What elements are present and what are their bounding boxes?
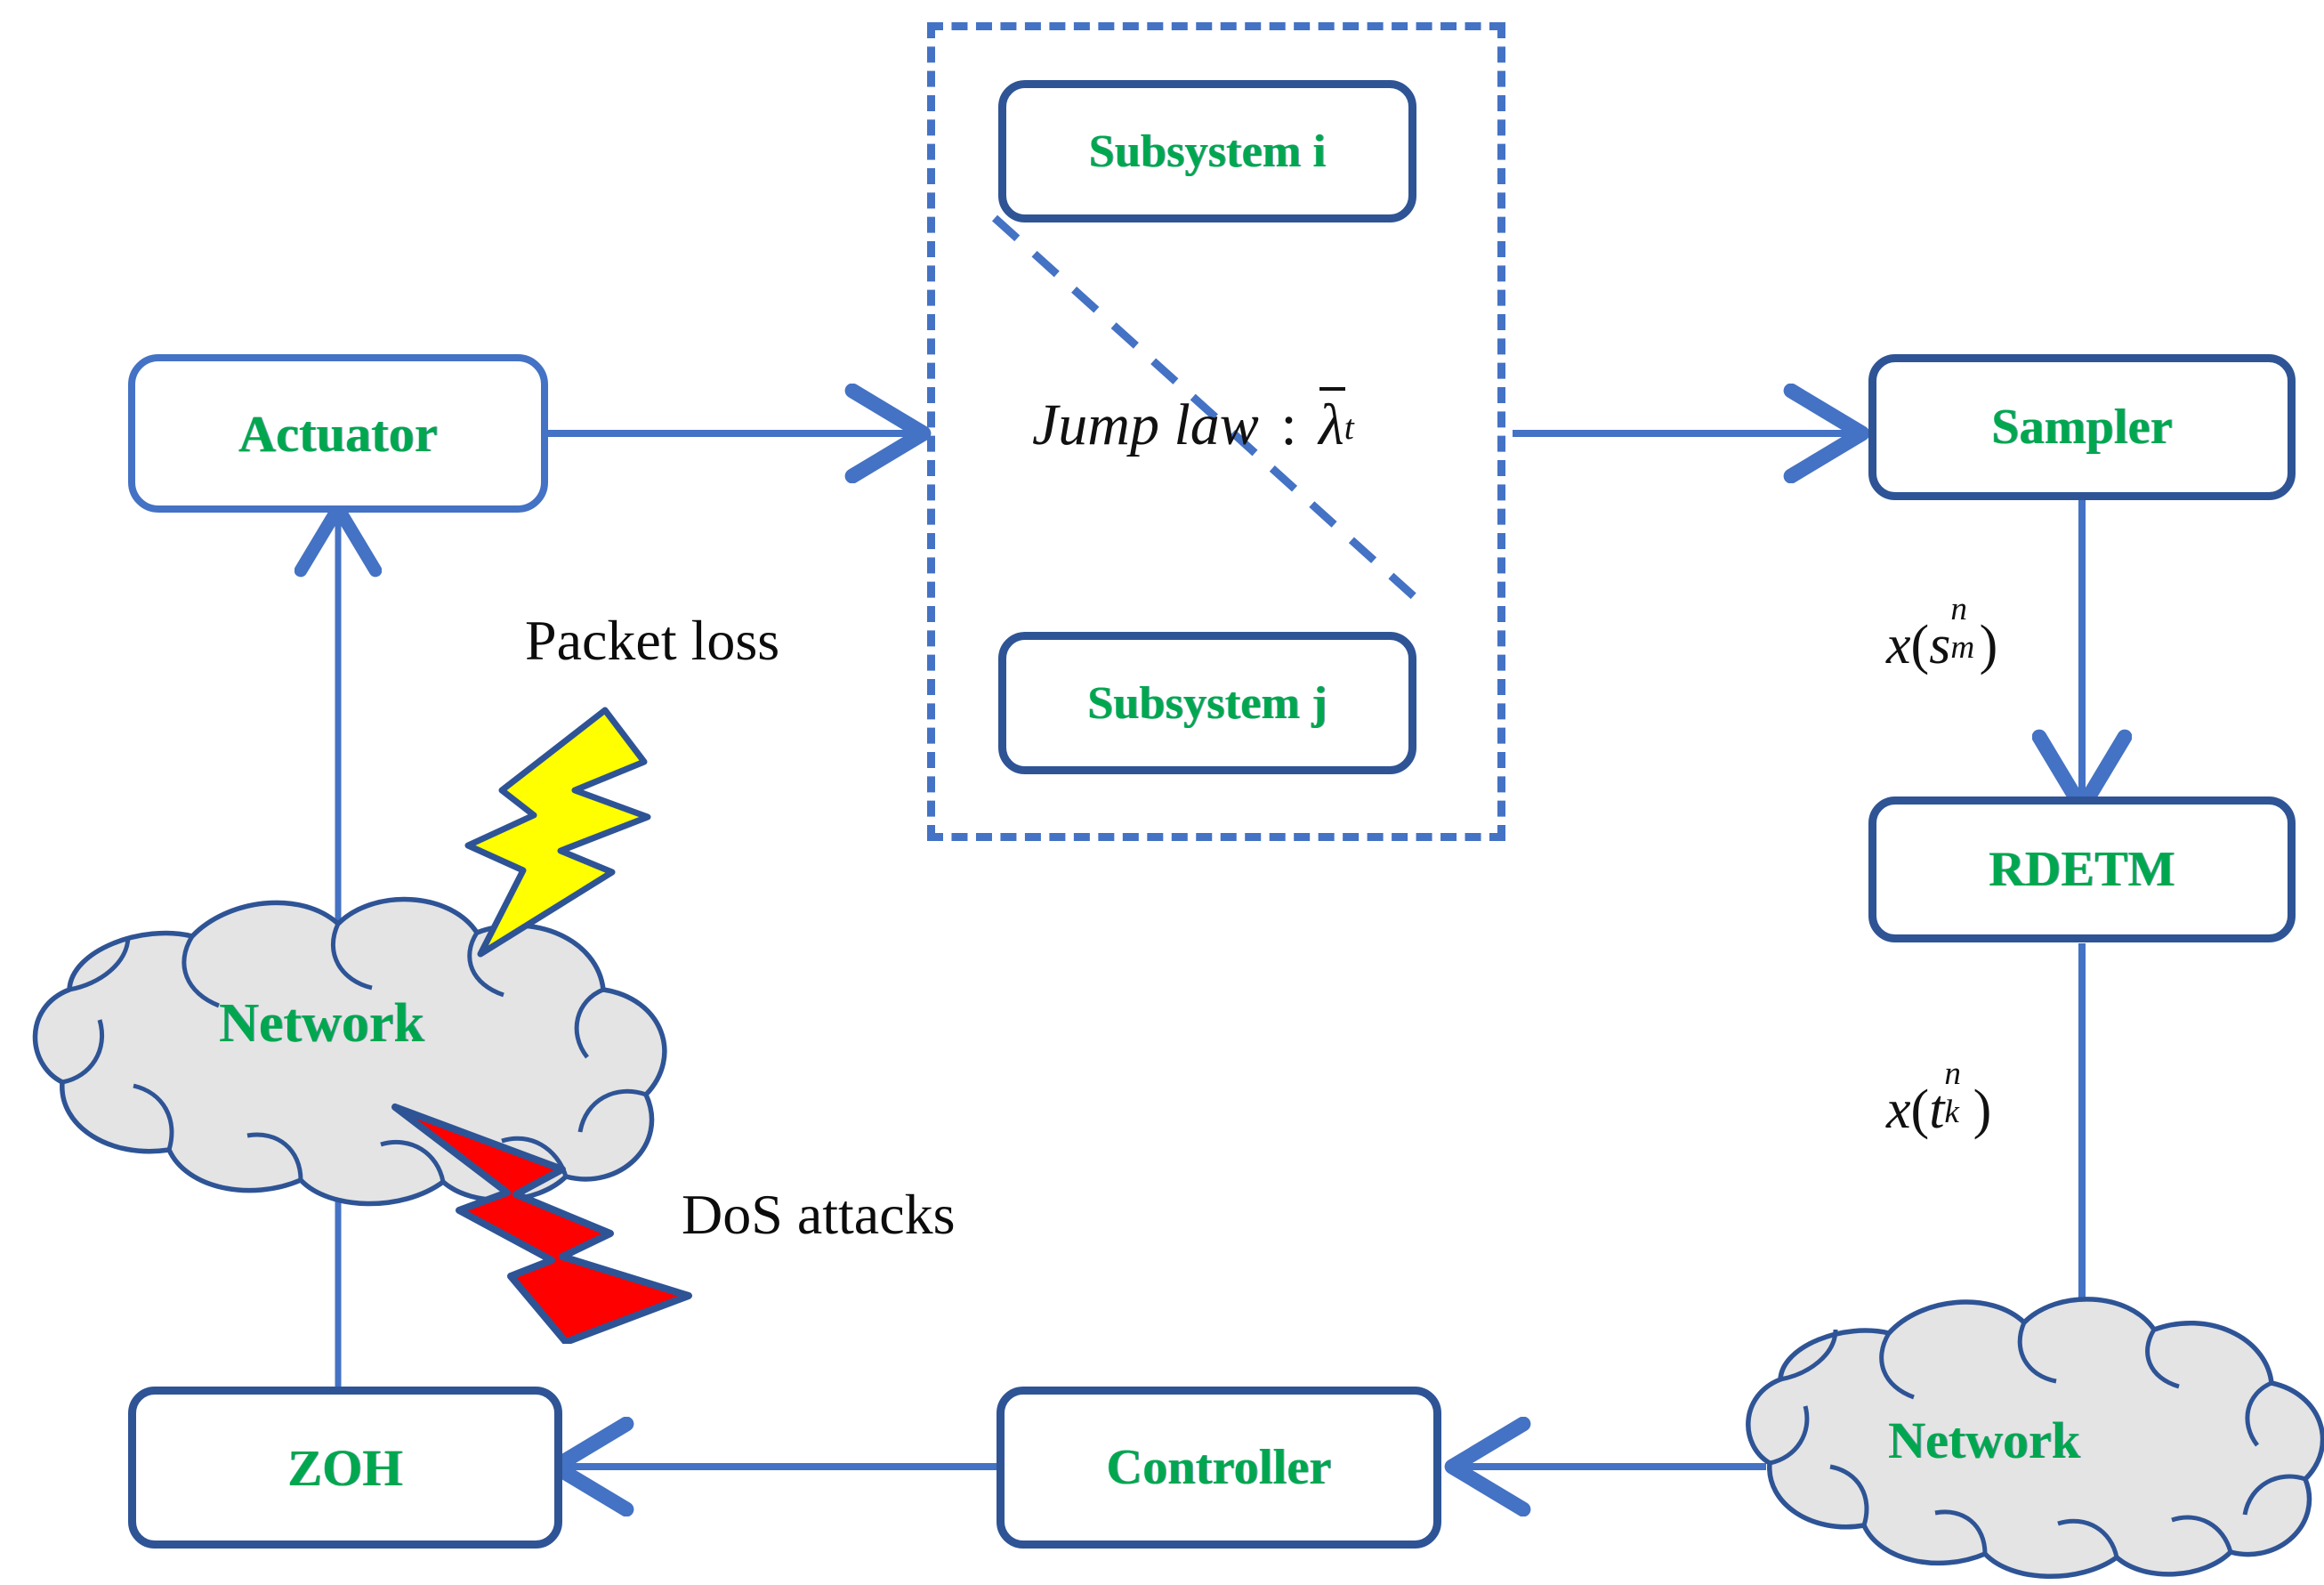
jump-law-prefix: Jump law	[1032, 392, 1259, 457]
node-subsystem-j[interactable]: Subsystem j	[998, 632, 1416, 774]
signal-1-variable-group: snm	[1929, 614, 1950, 677]
node-rdetm[interactable]: RDETM	[1868, 797, 2296, 942]
node-subsystem-i[interactable]: Subsystem i	[998, 80, 1416, 222]
jump-law-lambda-subscript: t	[1344, 407, 1354, 448]
jump-law-equation: Jump law : λ t	[1032, 392, 1375, 459]
signal-1-subscript: m	[1950, 628, 1974, 667]
node-rdetm-label: RDETM	[1989, 841, 2175, 898]
signal-1-open: (	[1911, 615, 1930, 675]
node-controller[interactable]: Controller	[997, 1387, 1441, 1549]
jump-law-lambda-symbol: λ	[1319, 392, 1344, 459]
signal-2-variable: t	[1929, 1080, 1944, 1140]
signal-2-subscript: k	[1944, 1093, 1959, 1131]
packet-loss-bolt-icon	[427, 703, 658, 961]
node-subsystem-i-label: Subsystem i	[1089, 125, 1327, 178]
signal-2-base: x	[1886, 1080, 1911, 1140]
node-actuator[interactable]: Actuator	[128, 354, 548, 513]
node-subsystem-j-label: Subsystem j	[1087, 677, 1327, 730]
network-left-label: Network	[219, 992, 424, 1055]
signal-1-base: x	[1886, 615, 1911, 675]
signal-2-open: (	[1911, 1080, 1930, 1140]
signal-label-sampler-rdetm: x(snm)	[1886, 614, 1997, 677]
annotation-dos-attacks: DoS attacks	[682, 1182, 956, 1248]
signal-label-rdetm-network: x(tnk)	[1886, 1079, 1991, 1142]
network-right-label: Network	[1888, 1411, 2080, 1470]
node-sampler[interactable]: Sampler	[1868, 354, 2296, 500]
node-controller-label: Controller	[1107, 1439, 1332, 1496]
node-zoh-label: ZOH	[287, 1438, 403, 1498]
signal-2-variable-group: tnk	[1929, 1079, 1944, 1142]
node-sampler-label: Sampler	[1991, 399, 2173, 456]
annotation-packet-loss: Packet loss	[525, 608, 779, 674]
signal-1-variable: s	[1929, 615, 1950, 675]
node-actuator-label: Actuator	[238, 404, 438, 464]
signal-1-close: )	[1980, 615, 1998, 675]
signal-2-superscript: n	[1944, 1055, 1961, 1093]
jump-law-separator: :	[1273, 392, 1303, 457]
signal-2-close: )	[1973, 1080, 1992, 1140]
signal-1-superscript: n	[1950, 590, 1967, 628]
node-zoh[interactable]: ZOH	[128, 1387, 562, 1549]
jump-law-lambda: λ t	[1319, 392, 1344, 459]
diagram-canvas: Network Network Actuator Subsystem i Sub…	[0, 0, 2324, 1585]
